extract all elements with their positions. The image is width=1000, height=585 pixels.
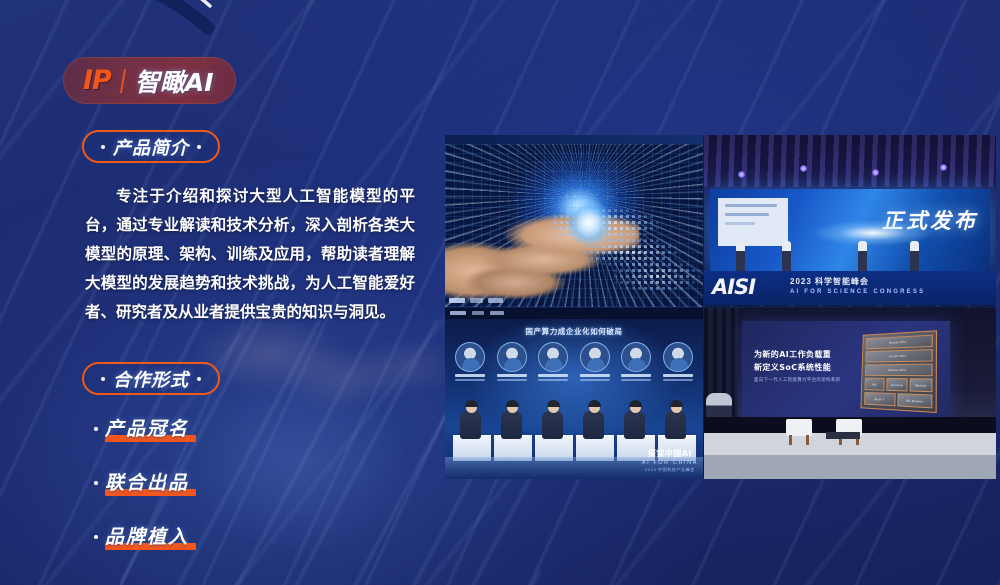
bullet-icon [94, 535, 98, 539]
speaker-body [501, 411, 522, 439]
chip-block: Wi-Fi 7 [864, 392, 896, 406]
spotlight-icon [940, 164, 947, 171]
cooperation-item-label: 产品冠名 [105, 414, 189, 441]
chip-block: Armv9 CPU [865, 349, 932, 362]
speaker-body [583, 411, 604, 439]
slide-line-icon [725, 204, 777, 207]
watermark-sub-text: AI FOR CHINA [642, 460, 698, 466]
chip-block: 5G Modem [897, 393, 932, 408]
stage-banner: AISI 2023 科学智能峰会 AI FOR SCIENCE CONGRESS [704, 271, 996, 305]
slide-headline-line-1: 为新的AI工作负载重 [754, 349, 831, 360]
speaker-hair [670, 400, 683, 407]
seated-speaker [451, 395, 492, 461]
chair-leg [806, 435, 809, 445]
chip-block-label: Modem [910, 379, 931, 391]
logo-mark-2-icon [470, 298, 483, 303]
panel-screen-title: 国产算力成企业化如何破局 [445, 326, 703, 337]
stage-person [910, 241, 919, 271]
logo-ip-text: IP [83, 65, 111, 96]
chip-block: Sensing [886, 378, 908, 392]
banner-line-1: 2023 科学智能峰会 [790, 276, 869, 287]
spotlight-icon [738, 171, 745, 178]
stage-person [736, 241, 745, 271]
banner-brand-text: AISI [712, 275, 755, 299]
poster-canvas: IP 智瞰AI 产品简介 专注于介绍和探讨大型人工智能模型的平台，通过专业解读和… [0, 0, 1000, 585]
screen-slide-card [718, 198, 788, 246]
logo-mark-3-icon [488, 298, 503, 303]
avatar [663, 342, 693, 372]
slide-subtext: 面向下一代人工智能算力平台的架构革新 [754, 377, 840, 383]
speaker-body [624, 411, 645, 439]
cooperation-item[interactable]: 品牌植入 [94, 521, 189, 549]
chip-block-label: Wi-Fi 7 [865, 393, 895, 405]
gallery-image-keynote-soc-slide[interactable]: 为新的AI工作负载重 新定义SoC系统性能 面向下一代人工智能算力平台的架构革新… [704, 308, 996, 479]
avatar [621, 342, 651, 372]
led-stage-screen: 正式发布 [710, 189, 990, 271]
chip-block-label: AIE [865, 379, 883, 390]
spotlight-icon [872, 169, 879, 176]
seated-speaker [533, 395, 574, 461]
chair-leg [789, 435, 792, 445]
speaker-avatar [497, 342, 527, 381]
speaker-avatar [621, 342, 651, 381]
speaker-avatar [580, 342, 610, 381]
stage-person [782, 241, 791, 271]
image-gallery-grid: 正式发布 AISI 2023 科学智能峰会 AI FOR SCIENCE CON… [445, 135, 995, 478]
stage-chair [786, 419, 812, 445]
avatar-role-line [497, 379, 527, 381]
avatar-role-line [621, 379, 651, 381]
image-top-strip [445, 135, 703, 144]
brand-logo[interactable]: IP 智瞰AI [63, 57, 236, 104]
cooperation-item-label: 品牌植入 [105, 522, 189, 549]
image-corner-logos [449, 298, 503, 303]
logo-mark-2-icon [472, 311, 484, 315]
seated-speaker [574, 395, 615, 461]
chip-block: Adreno GPU [865, 364, 933, 377]
speaker-hair [506, 400, 519, 407]
avatar-role-line [663, 379, 693, 381]
section-badge-cooperation: 合作形式 [82, 362, 220, 395]
badge-dot-right-icon [197, 145, 201, 149]
gallery-image-panel-discussion[interactable]: 国产算力成企业化如何破局 探索中国AI AI FOR CHIN [445, 308, 703, 479]
speaker-hair [465, 400, 478, 407]
avatar-role-line [538, 379, 568, 381]
avatar-name-line [663, 374, 693, 377]
chip-block-label: Neural NPU [867, 336, 932, 349]
stage-side-table [826, 432, 860, 439]
speaker-avatar [538, 342, 568, 381]
speaker-avatar [455, 342, 485, 381]
speaker-body [665, 411, 686, 439]
avatar-name-line [538, 374, 568, 377]
section-badge-cooperation-label: 合作形式 [113, 366, 189, 392]
slide-line-icon [725, 213, 769, 216]
avatar-role-line [455, 379, 485, 381]
chip-block-row: Wi-Fi 7 5G Modem [864, 392, 932, 408]
speaker-body [542, 411, 563, 439]
chip-block: Neural NPU [866, 335, 933, 350]
avatar [580, 342, 610, 372]
chip-block-label: Adreno GPU [866, 365, 932, 376]
chair-back [786, 419, 812, 436]
panel-watermark: 探索中国AI AI FOR CHINA 2023 中国科技产业峰会 [642, 448, 698, 473]
image-top-strip [445, 308, 703, 319]
cooperation-item-label: 联合出品 [105, 468, 189, 495]
gallery-image-human-and-digital-hand[interactable] [445, 135, 703, 307]
speaker-hair [588, 400, 601, 407]
left-content-column: IP 智瞰AI 产品简介 专注于介绍和探讨大型人工智能模型的平台，通过专业解读和… [0, 0, 440, 585]
logo-mark-3-icon [490, 311, 504, 315]
cooperation-list: 产品冠名 联合出品 品牌植入 [94, 413, 394, 575]
slide-line-icon [725, 222, 755, 225]
avatar-role-line [580, 379, 610, 381]
avatar-name-line [621, 374, 651, 377]
watermark-main-text: 探索中国AI [642, 448, 698, 459]
avatar-name-line [580, 374, 610, 377]
logo-mark-1-icon [450, 311, 466, 315]
avatar-name-line [455, 374, 485, 377]
avatar-name-line [497, 374, 527, 377]
logo-separator-icon [120, 69, 126, 93]
keynote-slide: 为新的AI工作负载重 新定义SoC系统性能 面向下一代人工智能算力平台的架构革新… [742, 321, 950, 419]
speaker-hair [629, 400, 642, 407]
badge-dot-left-icon [101, 145, 105, 149]
chip-block-label: Armv9 CPU [866, 350, 931, 361]
logo-mark-1-icon [449, 298, 465, 303]
bullet-icon [94, 481, 98, 485]
chip-block: Modem [909, 378, 932, 392]
soc-chip-diagram: Neural NPU Armv9 CPU Adreno GPU AIE Sens… [860, 330, 937, 413]
bullet-icon [94, 427, 98, 431]
avatar [538, 342, 568, 372]
stage-person [858, 241, 867, 271]
section-badge-intro-label: 产品简介 [113, 134, 189, 160]
avatar [455, 342, 485, 372]
chip-block-label: 5G Modem [898, 394, 931, 407]
badge-dot-left-icon [101, 377, 105, 381]
slide-headline-line-2: 新定义SoC系统性能 [754, 362, 831, 373]
gallery-image-stage-launch[interactable]: 正式发布 AISI 2023 科学智能峰会 AI FOR SCIENCE CON… [704, 135, 996, 307]
intro-paragraph: 专注于介绍和探讨大型人工智能模型的平台，通过专业解读和技术分析，深入剖析各类大模… [85, 182, 415, 327]
badge-dot-right-icon [197, 377, 201, 381]
chip-block-label: Sensing [887, 379, 907, 391]
speaker-avatar [663, 342, 693, 381]
chip-block-row: AIE Sensing Modem [864, 378, 932, 393]
speaker-hair [547, 400, 560, 407]
chip-block: AIE [864, 378, 884, 391]
venue-floor [704, 305, 996, 307]
section-badge-intro: 产品简介 [82, 130, 220, 163]
avatar [497, 342, 527, 372]
logo-brand-name: 智瞰AI [135, 63, 214, 99]
cooperation-item[interactable]: 联合出品 [94, 467, 189, 495]
spotlight-icon [800, 165, 807, 172]
ceiling-truss [704, 135, 996, 187]
banner-line-2: AI FOR SCIENCE CONGRESS [790, 289, 925, 295]
cooperation-item[interactable]: 产品冠名 [94, 413, 189, 441]
seated-speaker [492, 395, 533, 461]
speaker-body [460, 411, 481, 439]
watermark-note-text: 2023 中国科技产业峰会 [642, 467, 698, 473]
panel-speaker-avatars [455, 342, 693, 381]
